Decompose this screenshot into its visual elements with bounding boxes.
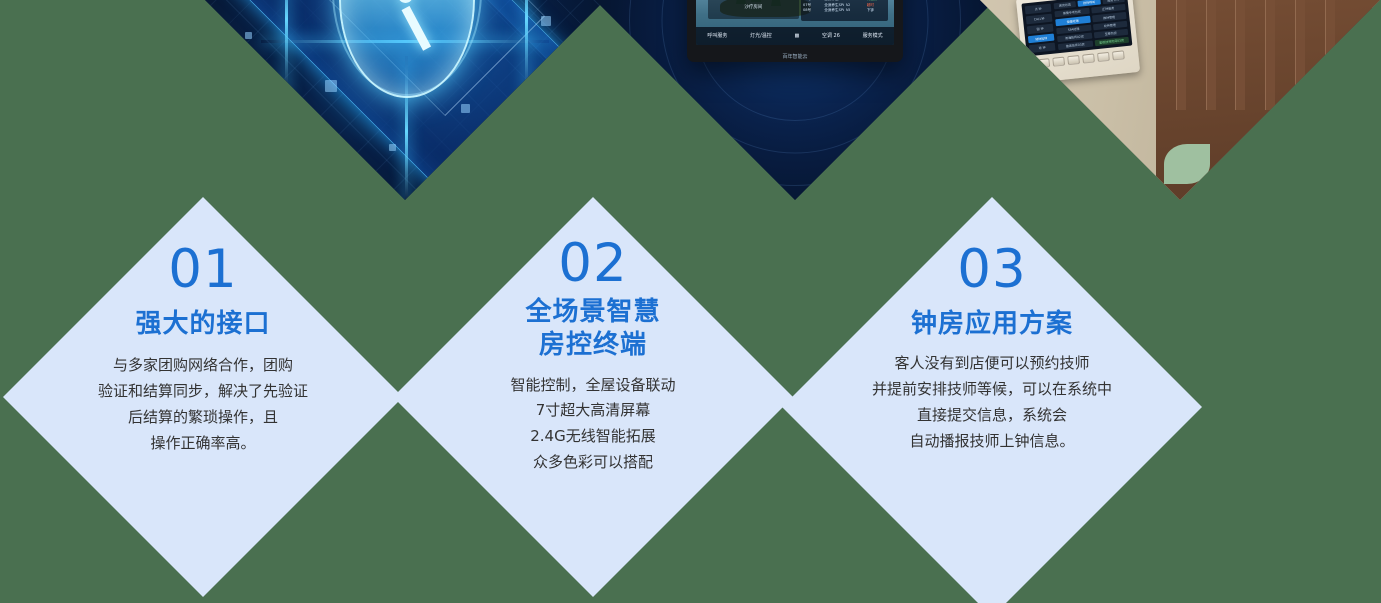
feature-card-2: 02 全场景智慧 房控终端 智能控制，全屋设备联动 7寸超大高清屏幕 2.4G无… xyxy=(393,197,793,597)
panel-tab[interactable]: 客房状态 xyxy=(1054,1,1077,10)
partition-slat xyxy=(1295,0,1305,110)
control-button[interactable]: 灯光/温控 xyxy=(750,32,772,39)
partition-slat xyxy=(1176,0,1186,110)
card-body: 智能控制，全屋设备联动 7寸超大高清屏幕 2.4G无线智能拓展 众多色彩可以搭配 xyxy=(443,373,743,476)
panel-button[interactable] xyxy=(1037,58,1050,68)
control-button[interactable]: 服务模式 xyxy=(863,32,883,39)
card-body-line: 客人没有到店便可以预约技师 xyxy=(827,351,1157,377)
card-title: 强大的接口 xyxy=(135,308,270,341)
panel-menu-item[interactable]: 圆 钟 xyxy=(1027,23,1054,34)
foliage-plant xyxy=(1164,144,1210,184)
card-title-line: 钟房应用方案 xyxy=(911,308,1073,341)
card-body-line: 验证和结算同步，解决了先验证 xyxy=(53,379,353,405)
card-body-line: 7寸超大高清屏幕 xyxy=(443,398,743,424)
circuit-speck xyxy=(541,16,551,26)
feature-card-3: 03 钟房应用方案 客人没有到店便可以预约技师 并提前安排技师等候，可以在系统中… xyxy=(782,197,1202,603)
control-button[interactable]: 空调 26 xyxy=(822,32,840,39)
card-body-line: 直接提交信息，系统会 xyxy=(827,403,1157,429)
cell-tech: A5 xyxy=(846,8,865,13)
cell-room: 08号 xyxy=(803,8,822,13)
panel-grid-item[interactable]: 星级技师房间03房 xyxy=(1094,37,1129,47)
card-body-line: 自动播报技师上钟信息。 xyxy=(827,429,1157,455)
apps-grid-icon[interactable]: ▩ xyxy=(795,33,800,39)
tablet-brand-label: 百年智能云 xyxy=(687,53,903,60)
card-body-line: 并提前安排技师等候，可以在系统中 xyxy=(827,377,1157,403)
service-list-row: 08号 全身养生SPA A5 下钟 xyxy=(803,8,886,13)
panel-button[interactable] xyxy=(1082,54,1095,64)
cell-item: 全身养生SPA xyxy=(824,8,843,13)
partition-slat xyxy=(1206,0,1216,110)
tablet-screen: 22:35 SPA6房 19°C 11/24 钟人 项目 技师 状态 01号 全 xyxy=(696,0,894,45)
feature-card-1: 01 强大的接口 与多家团购网络合作，团购 验证和结算同步，解决了先验证 后结算… xyxy=(3,197,403,597)
card-title-line: 全场景智慧 xyxy=(525,296,660,329)
partition-slat xyxy=(1235,0,1245,110)
card-title: 全场景智慧 房控终端 xyxy=(525,296,660,363)
card-body-line: 2.4G无线智能拓展 xyxy=(443,424,743,450)
circuit-speck xyxy=(325,80,337,92)
panel-content: 客房状态 技师呼叫 服务计时 保健专项包房 正钟服务 保健经理 推钟管理 xyxy=(1054,0,1130,50)
card-body-line: 后结算的繁琐操作，且 xyxy=(53,405,353,431)
panel-menu-item-selected[interactable]: 转钟加钟 xyxy=(1028,33,1055,44)
panel-button[interactable] xyxy=(1067,55,1080,65)
card-body-line: 操作正确率高。 xyxy=(53,431,353,457)
card-title-line: 强大的接口 xyxy=(135,308,270,341)
card-number: 03 xyxy=(957,243,1026,296)
foliage-plant xyxy=(1212,164,1268,200)
panel-menu-item[interactable]: 退 钟 xyxy=(1029,43,1056,54)
panel-button[interactable] xyxy=(1097,52,1110,62)
cell-state: 下钟 xyxy=(867,8,886,13)
tablet-service-list: 钟人 项目 技师 状态 01号 全身养生SPA A2 下钟 03号 xyxy=(801,0,888,21)
mini-window-label: 沙疗房间 xyxy=(744,4,762,10)
card-image-diamond-3: 点 钟 CALL钟 圆 钟 转钟加钟 退 钟 客房状态 技师呼叫 服务计时 xyxy=(980,0,1380,200)
card-image-diamond-1 xyxy=(205,0,605,200)
card-number: 02 xyxy=(558,237,627,290)
wall-control-panel[interactable]: 点 钟 CALL钟 圆 钟 转钟加钟 退 钟 客房状态 技师呼叫 服务计时 xyxy=(1016,0,1140,84)
feature-diamonds-banner: 22:35 SPA6房 19°C 11/24 钟人 项目 技师 状态 01号 全 xyxy=(0,0,1381,603)
card-body: 客人没有到店便可以预约技师 并提前安排技师等候，可以在系统中 直接提交信息，系统… xyxy=(827,351,1157,454)
card-body-line: 众多色彩可以搭配 xyxy=(443,450,743,476)
wall-mounted-room-panel-photo-image: 点 钟 CALL钟 圆 钟 转钟加钟 退 钟 客房状态 技师呼叫 服务计时 xyxy=(980,0,1380,200)
card-image-diamond-2: 22:35 SPA6房 19°C 11/24 钟人 项目 技师 状态 01号 全 xyxy=(595,0,995,200)
panel-menu-item[interactable]: 点 钟 xyxy=(1025,4,1052,15)
circuit-speck xyxy=(245,32,252,39)
partition-slat xyxy=(1265,0,1275,110)
light-beam-right xyxy=(525,0,528,94)
panel-grid-item[interactable]: 首席技师03房 xyxy=(1058,41,1093,51)
light-beam-left xyxy=(285,0,288,94)
panel-screen: 点 钟 CALL钟 圆 钟 转钟加钟 退 钟 客房状态 技师呼叫 服务计时 xyxy=(1021,0,1132,57)
control-button[interactable]: 呼叫服务 xyxy=(707,32,727,39)
digital-security-shield-image xyxy=(205,0,605,200)
card-title-line: 房控终端 xyxy=(525,329,660,362)
control-tablet-device: 22:35 SPA6房 19°C 11/24 钟人 项目 技师 状态 01号 全 xyxy=(687,0,903,62)
panel-side-menu: 点 钟 CALL钟 圆 钟 转钟加钟 退 钟 xyxy=(1025,4,1056,54)
card-body-line: 智能控制，全屋设备联动 xyxy=(443,373,743,399)
card-title: 钟房应用方案 xyxy=(911,308,1073,341)
circuit-speck xyxy=(389,144,396,151)
tablet-control-bar: 呼叫服务 灯光/温控 ▩ 空调 26 服务模式 xyxy=(696,27,894,45)
panel-menu-item[interactable]: CALL钟 xyxy=(1026,14,1053,25)
panel-button[interactable] xyxy=(1052,57,1065,67)
smart-room-control-tablet-image: 22:35 SPA6房 19°C 11/24 钟人 项目 技师 状态 01号 全 xyxy=(595,0,995,200)
circuit-speck xyxy=(461,104,470,113)
card-body: 与多家团购网络合作，团购 验证和结算同步，解决了先验证 后结算的繁琐操作，且 操… xyxy=(53,353,353,456)
card-number: 01 xyxy=(168,243,237,296)
tablet-mini-window: 沙疗房间 xyxy=(708,0,799,19)
partition-slat xyxy=(1325,0,1335,110)
panel-button[interactable] xyxy=(1111,51,1124,61)
card-body-line: 与多家团购网络合作，团购 xyxy=(53,353,353,379)
